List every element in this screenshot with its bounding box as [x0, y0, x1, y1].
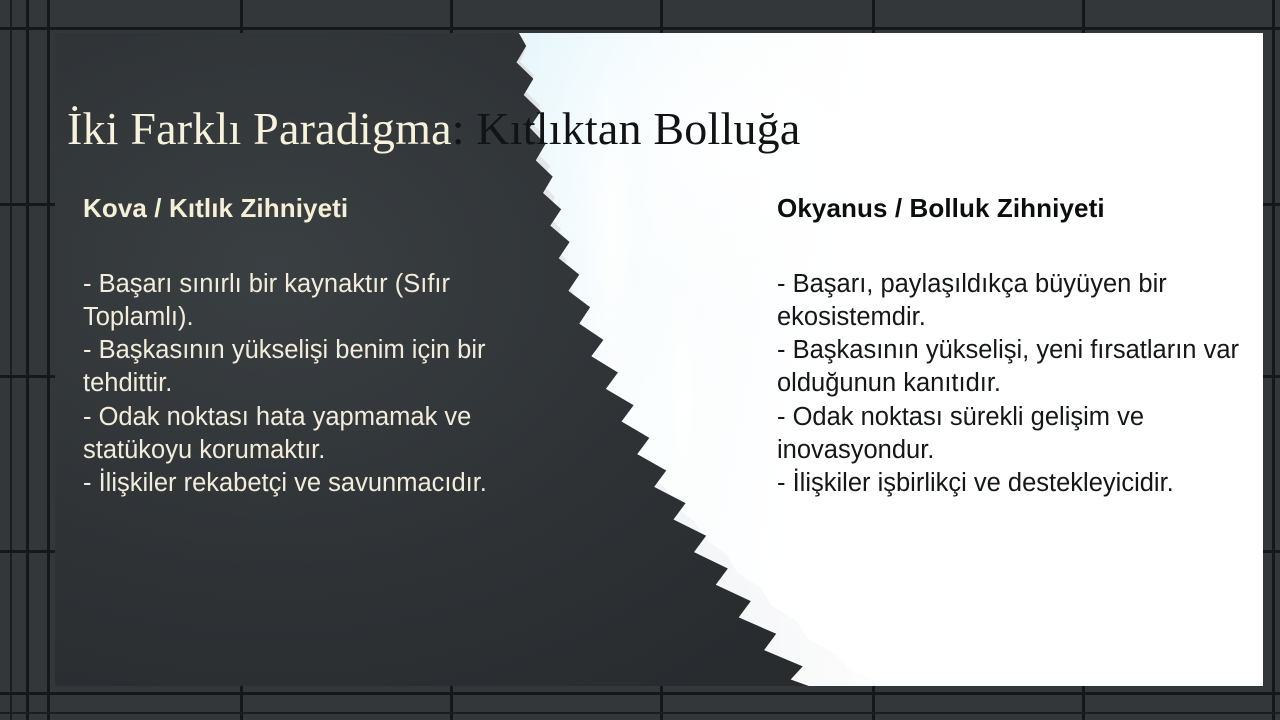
- grid-line-horizontal: [0, 692, 1280, 695]
- grid-line-horizontal: [0, 712, 1280, 714]
- grid-line-vertical: [47, 0, 50, 720]
- list-item: - Başarı, paylaşıldıkça büyüyen bir ekos…: [777, 268, 1247, 334]
- scarcity-column-heading: Kova / Kıtlık Zihniyeti: [83, 193, 553, 224]
- grid-line-vertical: [1272, 0, 1275, 720]
- list-item: - Başkasının yükselişi benim için bir te…: [83, 334, 553, 400]
- scarcity-column-body: - Başarı sınırlı bir kaynaktır (Sıfır To…: [83, 268, 553, 500]
- scarcity-column: Kova / Kıtlık Zihniyeti - Başarı sınırlı…: [83, 193, 553, 500]
- grid-line-vertical: [26, 0, 29, 720]
- grid-line-vertical: [10, 0, 12, 720]
- list-item: - Başarı sınırlı bir kaynaktır (Sıfır To…: [83, 268, 553, 334]
- presentation-slide: İki Farklı Paradigma: Kıtlıktan Bolluğa …: [55, 33, 1263, 686]
- list-item: - İlişkiler işbirlikçi ve destekleyicidi…: [777, 467, 1247, 500]
- list-item: - İlişkiler rekabetçi ve savunmacıdır.: [83, 467, 553, 500]
- list-item: - Odak noktası hata yapmamak ve statükoy…: [83, 401, 553, 467]
- abundance-column-body: - Başarı, paylaşıldıkça büyüyen bir ekos…: [777, 268, 1247, 500]
- grid-line-horizontal: [0, 27, 1280, 30]
- page-title: İki Farklı Paradigma: Kıtlıktan Bolluğa: [67, 102, 1247, 155]
- abundance-column: Okyanus / Bolluk Zihniyeti - Başarı, pay…: [777, 193, 1247, 500]
- page-title-dark-part: : Kıtlıktan Bolluğa: [452, 103, 801, 154]
- page-title-light-part: İki Farklı Paradigma: [67, 103, 452, 154]
- abundance-column-heading: Okyanus / Bolluk Zihniyeti: [777, 193, 1247, 224]
- list-item: - Odak noktası sürekli gelişim ve inovas…: [777, 401, 1247, 467]
- list-item: - Başkasının yükselişi, yeni fırsatların…: [777, 334, 1247, 400]
